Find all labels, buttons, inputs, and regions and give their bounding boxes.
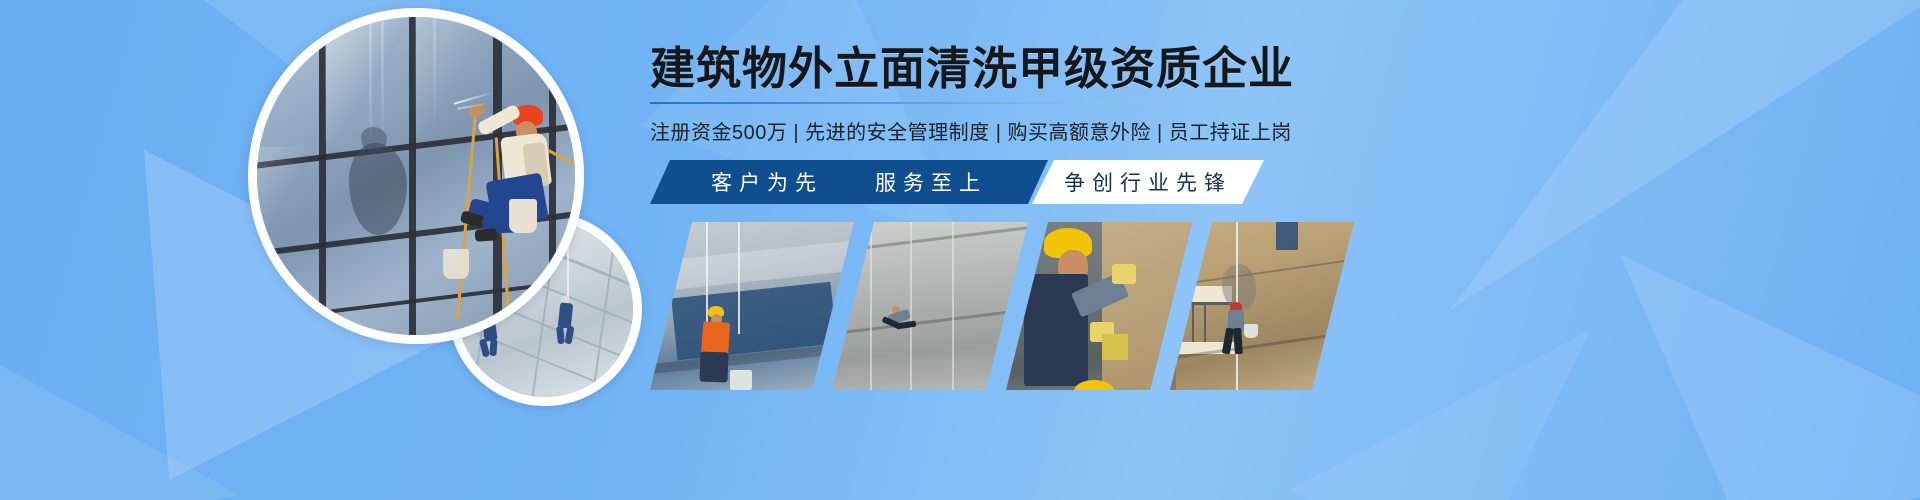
collage-photo-4	[1170, 222, 1354, 390]
wall-line	[1171, 259, 1350, 286]
safety-rope	[870, 222, 872, 390]
worker-bucket	[509, 199, 537, 233]
safety-rope	[952, 222, 954, 390]
bg-triangle-5	[1620, 190, 1920, 500]
safety-rope	[738, 222, 740, 334]
hanging-bucket	[443, 249, 469, 279]
worker-leg	[489, 339, 497, 356]
balcony-rail	[1170, 302, 1232, 305]
worker-shoe	[475, 228, 498, 242]
slogan-ribbon-white: 争创行业先锋	[1032, 160, 1264, 204]
slogan-ribbon-blue: 客户为先 服务至上	[650, 160, 1048, 204]
photo-circle-large	[248, 8, 584, 344]
worker-bucket	[730, 370, 752, 390]
collage-photo-3-image	[1006, 222, 1192, 390]
promo-banner: 建筑物外立面清洗甲级资质企业 注册资金500万 | 先进的安全管理制度 | 购买…	[0, 0, 1920, 500]
wall-line	[832, 222, 1028, 258]
water-streak	[433, 17, 436, 133]
worker-bucket	[1244, 324, 1258, 338]
headline-block: 建筑物外立面清洗甲级资质企业 注册资金500万 | 先进的安全管理制度 | 购买…	[650, 46, 1310, 145]
balcony-baluster	[1204, 302, 1206, 342]
collage-photo-2	[832, 222, 1028, 390]
glass-cleaning-photo	[257, 17, 575, 335]
worker-leg	[896, 321, 917, 330]
balcony-baluster	[1192, 302, 1194, 342]
collage-photo-1-image	[650, 222, 854, 390]
bg-triangle-3	[0, 300, 240, 500]
safety-rope	[910, 222, 912, 390]
bg-triangle-4	[1450, 0, 1920, 310]
collage-photo-4-image	[1170, 222, 1354, 390]
worker-leg	[1233, 328, 1243, 354]
collage-photo-2-image	[832, 222, 1028, 390]
page-subtitle: 注册资金500万 | 先进的安全管理制度 | 购买高额意外险 | 员工持证上岗	[650, 116, 1310, 145]
worker-glove	[1112, 264, 1136, 284]
slogan-ribbon: 客户为先 服务至上 争创行业先锋	[650, 160, 1264, 204]
slogan-3: 争创行业先锋	[1064, 167, 1232, 197]
bg-triangle-6	[1290, 330, 1590, 500]
building-window	[1276, 222, 1298, 250]
glass-sheen	[257, 147, 317, 231]
title-underline	[650, 102, 1288, 104]
photo-collage	[650, 222, 1308, 390]
collage-photo-3	[1006, 222, 1192, 390]
page-title: 建筑物外立面清洗甲级资质企业	[650, 46, 1310, 91]
slogan-2: 服务至上	[875, 167, 987, 197]
collage-photo-1	[650, 222, 854, 390]
balcony-baluster	[1180, 302, 1182, 342]
worker-legs	[699, 352, 728, 383]
trowel-tool	[1102, 334, 1128, 360]
glass-sheen	[415, 17, 491, 137]
slogan-1: 客户为先	[711, 167, 823, 197]
glass-sheen	[325, 17, 407, 143]
wall-line	[832, 303, 1028, 340]
